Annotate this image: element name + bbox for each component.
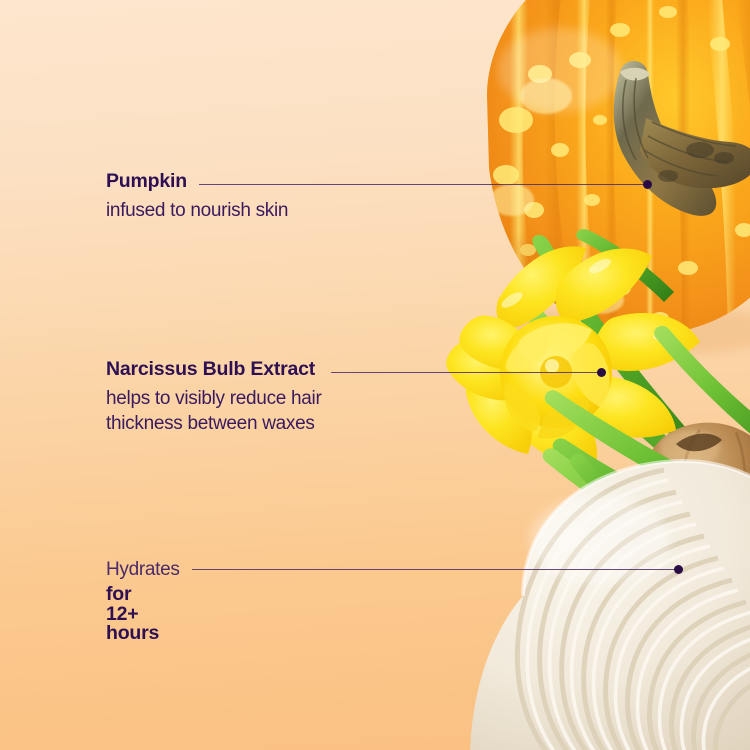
cream-swatch-photo bbox=[470, 461, 750, 750]
callout-narcissus-subtext-line2: thickness between waxes bbox=[106, 411, 322, 436]
callout-pumpkin-subtext: infused to nourish skin bbox=[106, 198, 288, 223]
callout-narcissus-connector-line bbox=[331, 372, 600, 373]
callout-hydration-endpoint-dot bbox=[674, 565, 683, 574]
callout-hydration-headline: for 12+ hours bbox=[106, 585, 159, 644]
callout-pumpkin-endpoint-dot bbox=[643, 180, 652, 189]
callout-hydration-connector-line bbox=[192, 569, 677, 570]
infographic-canvas: Pumpkin infused to nourish skin Narcissu… bbox=[0, 0, 750, 750]
callout-narcissus-subtext: helps to visibly reduce hair thickness b… bbox=[106, 386, 322, 436]
callout-pumpkin-headline: Pumpkin bbox=[106, 172, 187, 192]
callout-narcissus-headline: Narcissus Bulb Extract bbox=[106, 360, 315, 380]
callout-hydration-lead: Hydrates bbox=[106, 557, 180, 582]
callout-narcissus-subtext-line1: helps to visibly reduce hair bbox=[106, 386, 322, 411]
callout-pumpkin-connector-line bbox=[199, 184, 646, 185]
callout-narcissus-endpoint-dot bbox=[597, 368, 606, 377]
